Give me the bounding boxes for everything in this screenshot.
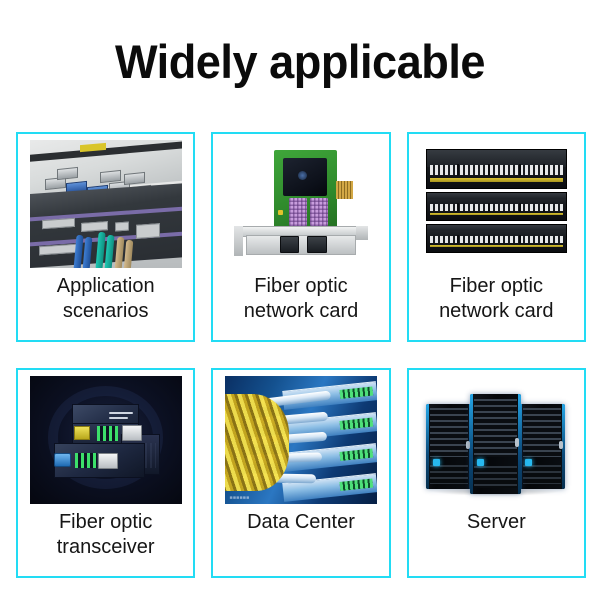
application-scenarios-image [30,140,182,268]
fiber-transceiver-image [30,376,182,504]
grid-cell-fiber-optic-network-card-1[interactable]: Fiber optic network card [211,132,390,342]
cell-caption: Application scenarios [22,274,189,324]
grid-cell-fiber-optic-network-card-2[interactable]: Fiber optic network card [407,132,586,342]
grid-cell-application-scenarios[interactable]: Application scenarios [16,132,195,342]
grid-cell-server[interactable]: Server [407,368,586,578]
fiber-network-card-image [225,140,377,268]
fiber-switch-stack-image [416,140,576,268]
image-watermark: ■■■■■■ [230,495,250,501]
server-racks-image [420,376,572,504]
cell-caption: Fiber optic network card [413,274,580,324]
page-title: Widely applicable [12,34,588,90]
cell-caption: Fiber optic transceiver [22,510,189,560]
cell-caption: Server [413,510,580,535]
data-center-image: ■■■■■■ [225,376,377,504]
grid-cell-fiber-optic-transceiver[interactable]: Fiber optic transceiver [16,368,195,578]
feature-grid: Application scenarios Fiber optic networ… [16,132,586,578]
poster-page: Widely applicable [0,0,600,600]
cell-caption: Fiber optic network card [217,274,384,324]
cell-caption: Data Center [217,510,384,535]
grid-cell-data-center[interactable]: ■■■■■■ Data Center [211,368,390,578]
